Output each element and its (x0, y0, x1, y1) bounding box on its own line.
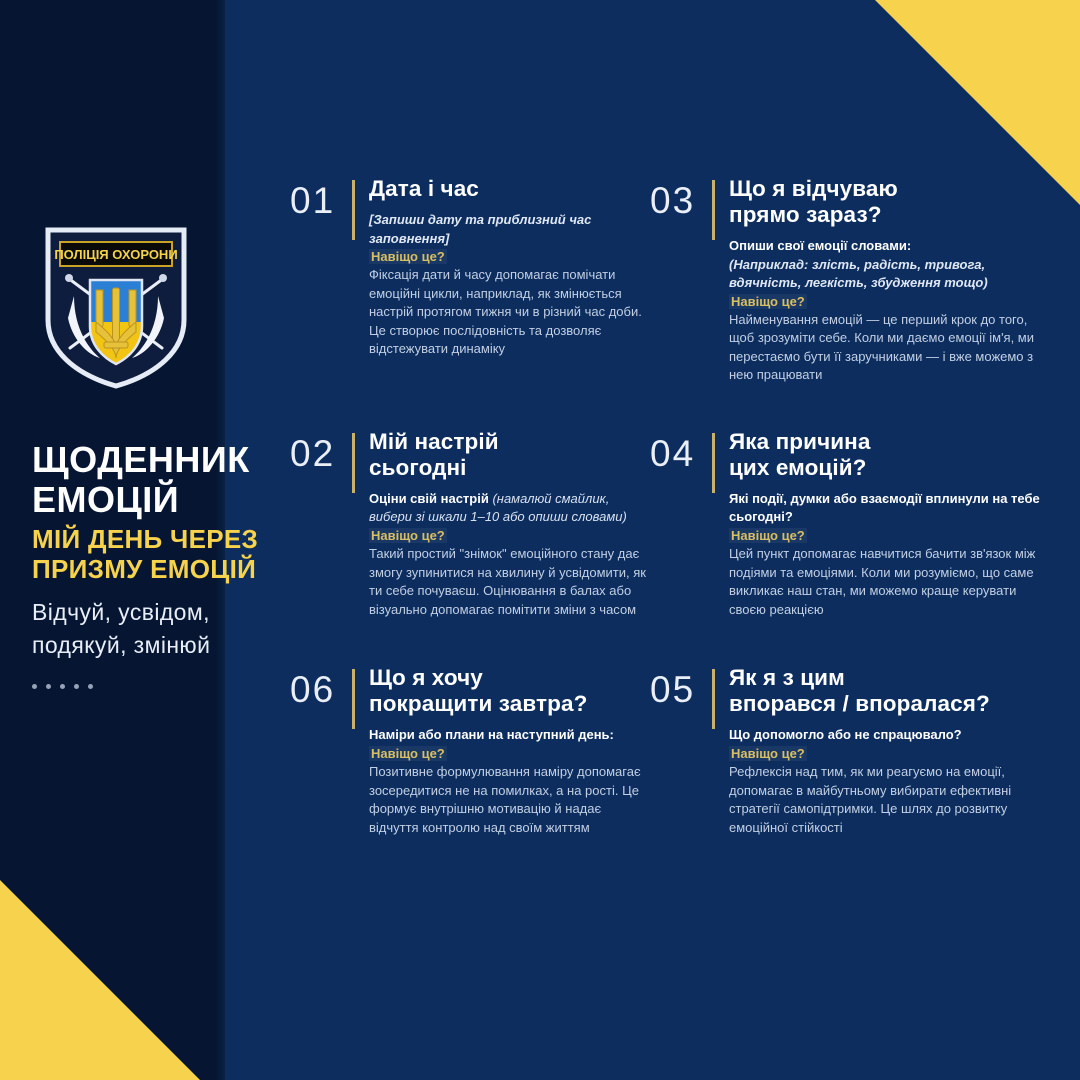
step-why-label: Навіщо це? (369, 528, 447, 543)
poster-tagline: Відчуй, усвідом, подякуй, змінюй (32, 596, 332, 661)
step-card-03: 03 Що я відчуваю прямо зараз? Опиши свої… (650, 176, 1050, 385)
tagline-line-2: подякуй, змінюй (32, 629, 332, 662)
step-number: 04 (650, 429, 712, 472)
step-title-line: Що я відчуваю (729, 176, 1050, 202)
step-title-line: Яка причина (729, 429, 1050, 455)
step-prompt: Що допомогло або не спрацювало? (729, 727, 962, 742)
steps-row-2: 02 Мій настрій сьогодні Оціни свій настр… (290, 429, 1080, 619)
step-title-line: прямо зараз? (729, 202, 1050, 228)
step-card-01: 01 Дата і час [Запиши дату та приблизний… (290, 176, 650, 385)
dot (88, 684, 93, 689)
step-divider-bar (352, 669, 355, 729)
step-prompt: Оціни свій настрій (369, 491, 489, 506)
top-right-triangle-decor (875, 0, 1080, 205)
step-why-label: Навіщо це? (369, 249, 447, 264)
poster-subtitle-line-2: ПРИЗМУ ЕМОЦІЙ (32, 555, 332, 585)
step-why-label: Навіщо це? (729, 746, 807, 761)
dot (32, 684, 37, 689)
step-explanation: Фіксація дати й часу допомагає помічати … (369, 267, 642, 356)
step-content: Наміри або плани на наступний день: Наві… (369, 726, 650, 837)
step-divider-bar (712, 669, 715, 729)
decorative-dots (32, 684, 332, 689)
step-title: Дата і час (369, 176, 650, 202)
step-prompt-italic: [Запиши дату та приблизний час заповненн… (369, 212, 591, 245)
step-number: 01 (290, 176, 352, 219)
step-explanation: Такий простий "знімок" емоційного стану … (369, 546, 646, 616)
tagline-line-1: Відчуй, усвідом, (32, 596, 332, 629)
step-prompt-italic: (Наприклад: злість, радість, тривога, вд… (729, 257, 988, 290)
step-title: Яка причина цих емоцій? (729, 429, 1050, 481)
poster-subtitle-line-1: МІЙ ДЕНЬ ЧЕРЕЗ (32, 525, 332, 555)
step-card-04: 04 Яка причина цих емоцій? Які події, ду… (650, 429, 1050, 619)
steps-row-3: 06 Що я хочу покращити завтра? Наміри аб… (290, 665, 1080, 837)
step-why-label: Навіщо це? (729, 528, 807, 543)
step-divider-bar (712, 433, 715, 493)
step-number: 03 (650, 176, 712, 219)
step-explanation: Рефлексія над тим, як ми реагуємо на емо… (729, 764, 1011, 834)
step-why-label: Навіщо це? (369, 746, 447, 761)
dot (46, 684, 51, 689)
step-title: Мій настрій сьогодні (369, 429, 650, 481)
step-title-line: цих емоцій? (729, 455, 1050, 481)
poster-title-line-1: ЩОДЕННИК (32, 440, 332, 480)
step-prompt: Які події, думки або взаємодії вплинули … (729, 491, 1040, 524)
step-content: [Запиши дату та приблизний час заповненн… (369, 211, 650, 359)
step-title-line: сьогодні (369, 455, 650, 481)
poster-canvas: ПОЛІЦІЯ ОХОРОНИ (0, 0, 1080, 1080)
steps-grid: 01 Дата і час [Запиши дату та приблизний… (290, 176, 1080, 837)
step-prompt: Наміри або плани на наступний день: (369, 727, 614, 742)
poster-title-line-2: ЕМОЦІЙ (32, 480, 332, 520)
bottom-left-triangle-decor (0, 880, 200, 1080)
step-card-06: 06 Що я хочу покращити завтра? Наміри аб… (290, 665, 650, 837)
step-title-line: впорався / впоралася? (729, 691, 1050, 717)
step-explanation: Позитивне формулювання наміру допомагає … (369, 764, 641, 834)
step-divider-bar (352, 180, 355, 240)
step-explanation: Найменування емоцій — це перший крок до … (729, 312, 1034, 382)
step-card-02: 02 Мій настрій сьогодні Оціни свій настр… (290, 429, 650, 619)
step-title-line: Мій настрій (369, 429, 650, 455)
step-content: Що допомогло або не спрацювало? Навіщо ц… (729, 726, 1050, 837)
step-number: 05 (650, 665, 712, 708)
dot (74, 684, 79, 689)
step-title-line: покращити завтра? (369, 691, 650, 717)
poster-title: ЩОДЕННИК ЕМОЦІЙ (32, 440, 332, 521)
hero-block: ЩОДЕННИК ЕМОЦІЙ МІЙ ДЕНЬ ЧЕРЕЗ ПРИЗМУ ЕМ… (32, 440, 332, 689)
step-divider-bar (712, 180, 715, 240)
step-explanation: Цей пункт допомагає навчитися бачити зв'… (729, 546, 1035, 616)
step-content: Опиши свої емоції словами: (Наприклад: з… (729, 237, 1050, 385)
steps-row-1: 01 Дата і час [Запиши дату та приблизний… (290, 176, 1080, 385)
step-divider-bar (352, 433, 355, 493)
step-title-line: Дата і час (369, 176, 650, 202)
police-guard-emblem: ПОЛІЦІЯ ОХОРОНИ (38, 222, 194, 392)
emblem-banner-text: ПОЛІЦІЯ ОХОРОНИ (54, 247, 177, 262)
step-title: Що я хочу покращити завтра? (369, 665, 650, 717)
step-title: Що я відчуваю прямо зараз? (729, 176, 1050, 228)
dot (60, 684, 65, 689)
step-title: Як я з цим впорався / впоралася? (729, 665, 1050, 717)
step-why-label: Навіщо це? (729, 294, 807, 309)
step-prompt: Опиши свої емоції словами: (729, 238, 911, 253)
step-title-line: Що я хочу (369, 665, 650, 691)
step-content: Які події, думки або взаємодії вплинули … (729, 490, 1050, 619)
step-title-line: Як я з цим (729, 665, 1050, 691)
step-content: Оціни свій настрій (намалюй смайлик, виб… (369, 490, 650, 619)
poster-subtitle: МІЙ ДЕНЬ ЧЕРЕЗ ПРИЗМУ ЕМОЦІЙ (32, 525, 332, 585)
step-card-05: 05 Як я з цим впорався / впоралася? Що д… (650, 665, 1050, 837)
